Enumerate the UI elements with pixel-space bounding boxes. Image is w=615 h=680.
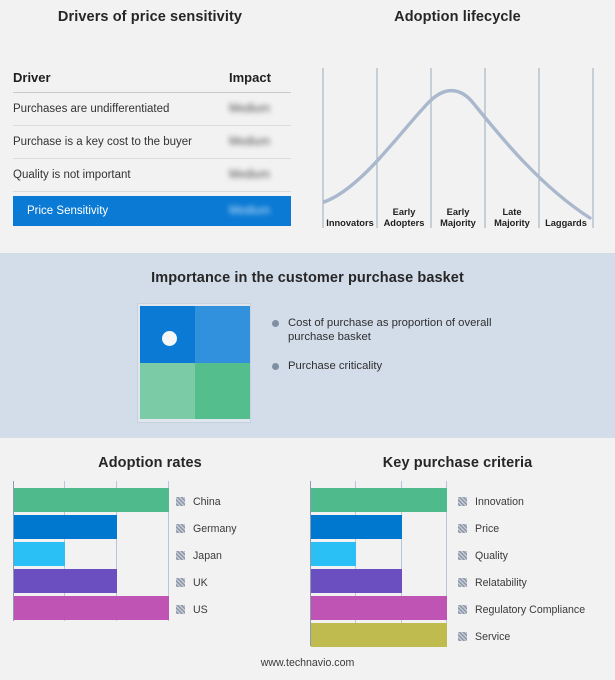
- stage-label-late-majority: Late Majority: [485, 207, 539, 229]
- bullet-dot-icon: [272, 363, 279, 370]
- legend-item-uk[interactable]: UK: [176, 569, 237, 596]
- impact-value: Medium: [229, 205, 291, 217]
- legend-label: Germany: [193, 523, 237, 535]
- legend-item: Purchase criticality: [272, 359, 572, 373]
- drivers-table: Driver Impact Purchases are undifferenti…: [13, 62, 291, 226]
- table-row[interactable]: Quality is not important Medium: [13, 159, 291, 192]
- legend-label: UK: [193, 577, 208, 589]
- legend-label: Japan: [193, 550, 222, 562]
- position-marker-dot: [162, 331, 177, 346]
- stage-label-early-majority: Early Majority: [431, 207, 485, 229]
- impact-value: Medium: [229, 136, 291, 148]
- legend-item-japan[interactable]: Japan: [176, 542, 237, 569]
- legend-label: Cost of purchase as proportion of overal…: [288, 316, 503, 344]
- lifecycle-panel: Adoption lifecycle Innovators Early Adop…: [300, 0, 615, 253]
- table-row[interactable]: Purchases are undifferentiated Medium: [13, 93, 291, 126]
- quadrant-bottom-right: [195, 363, 250, 420]
- legend-item-regulatory-compliance[interactable]: Regulatory Compliance: [458, 596, 585, 623]
- bar-china[interactable]: [14, 488, 169, 512]
- legend-label: US: [193, 604, 208, 616]
- key-criteria-chart: [310, 481, 447, 646]
- legend-item-us[interactable]: US: [176, 596, 237, 623]
- hatched-square-icon: [176, 524, 185, 533]
- legend-item-price[interactable]: Price: [458, 515, 585, 542]
- drivers-panel: Drivers of price sensitivity Driver Impa…: [0, 0, 300, 253]
- key-criteria-title: Key purchase criteria: [300, 455, 615, 471]
- hatched-square-icon: [458, 632, 467, 641]
- hatched-square-icon: [176, 551, 185, 560]
- legend-item-china[interactable]: China: [176, 488, 237, 515]
- legend-item: Cost of purchase as proportion of overal…: [272, 316, 572, 344]
- hatched-square-icon: [176, 605, 185, 614]
- quadrant-top-right: [195, 306, 250, 363]
- driver-label: Quality is not important: [13, 169, 131, 181]
- driver-label: Price Sensitivity: [27, 205, 108, 217]
- adoption-rates-legend: China Germany Japan UK US: [176, 488, 237, 623]
- lifecycle-stage-labels: Innovators Early Adopters Early Majority…: [322, 186, 594, 232]
- quadrant-matrix[interactable]: [137, 303, 251, 423]
- driver-label: Purchase is a key cost to the buyer: [13, 136, 192, 148]
- bar-quality[interactable]: [311, 542, 356, 566]
- bar-us[interactable]: [14, 596, 169, 620]
- column-header-impact: Impact: [229, 70, 291, 85]
- bar-regulatory-compliance[interactable]: [311, 596, 447, 620]
- bar-innovation[interactable]: [311, 488, 447, 512]
- hatched-square-icon: [458, 605, 467, 614]
- hatched-square-icon: [458, 524, 467, 533]
- bar-uk[interactable]: [14, 569, 117, 593]
- bar-relatability[interactable]: [311, 569, 402, 593]
- table-row[interactable]: Purchase is a key cost to the buyer Medi…: [13, 126, 291, 159]
- bar-japan[interactable]: [14, 542, 65, 566]
- table-header-row: Driver Impact: [13, 62, 291, 93]
- basket-legend: Cost of purchase as proportion of overal…: [272, 316, 572, 388]
- adoption-rates-title: Adoption rates: [0, 455, 300, 471]
- legend-label: Service: [475, 631, 510, 643]
- impact-value: Medium: [229, 169, 291, 181]
- impact-value: Medium: [229, 103, 291, 115]
- purchase-basket-panel: Importance in the customer purchase bask…: [0, 253, 615, 438]
- bar-price[interactable]: [311, 515, 402, 539]
- table-row-highlighted[interactable]: Price Sensitivity Medium: [13, 196, 291, 226]
- stage-label-laggards: Laggards: [539, 218, 593, 229]
- legend-item-service[interactable]: Service: [458, 623, 585, 650]
- purchase-basket-title: Importance in the customer purchase bask…: [0, 270, 615, 286]
- legend-item-quality[interactable]: Quality: [458, 542, 585, 569]
- column-header-driver: Driver: [13, 70, 51, 85]
- stage-label-early-adopters: Early Adopters: [377, 207, 431, 229]
- bullet-dot-icon: [272, 320, 279, 327]
- adoption-rates-chart: [13, 481, 169, 621]
- footer-url[interactable]: www.technavio.com: [0, 657, 615, 669]
- hatched-square-icon: [458, 578, 467, 587]
- key-criteria-panel: Key purchase criteria Innovation Price Q…: [300, 438, 615, 680]
- adoption-plot-area: [13, 481, 169, 621]
- criteria-plot-area: [310, 481, 447, 646]
- lifecycle-title: Adoption lifecycle: [300, 9, 615, 25]
- legend-item-innovation[interactable]: Innovation: [458, 488, 585, 515]
- bar-service[interactable]: [311, 623, 447, 647]
- legend-label: Regulatory Compliance: [475, 604, 585, 616]
- drivers-title: Drivers of price sensitivity: [0, 9, 300, 25]
- legend-label: Relatability: [475, 577, 527, 589]
- quadrant-bottom-left: [140, 363, 195, 420]
- hatched-square-icon: [176, 497, 185, 506]
- legend-item-relatability[interactable]: Relatability: [458, 569, 585, 596]
- hatched-square-icon: [458, 497, 467, 506]
- legend-label: Innovation: [475, 496, 524, 508]
- adoption-rates-panel: Adoption rates China Germany Japan: [0, 438, 300, 680]
- legend-label: China: [193, 496, 221, 508]
- key-criteria-legend: Innovation Price Quality Relatability Re…: [458, 488, 585, 650]
- legend-label: Purchase criticality: [288, 359, 382, 373]
- bar-germany[interactable]: [14, 515, 117, 539]
- legend-label: Quality: [475, 550, 508, 562]
- lifecycle-chart: Innovators Early Adopters Early Majority…: [322, 60, 594, 232]
- legend-label: Price: [475, 523, 499, 535]
- hatched-square-icon: [458, 551, 467, 560]
- driver-label: Purchases are undifferentiated: [13, 103, 169, 115]
- legend-item-germany[interactable]: Germany: [176, 515, 237, 542]
- hatched-square-icon: [176, 578, 185, 587]
- stage-label-innovators: Innovators: [323, 218, 377, 229]
